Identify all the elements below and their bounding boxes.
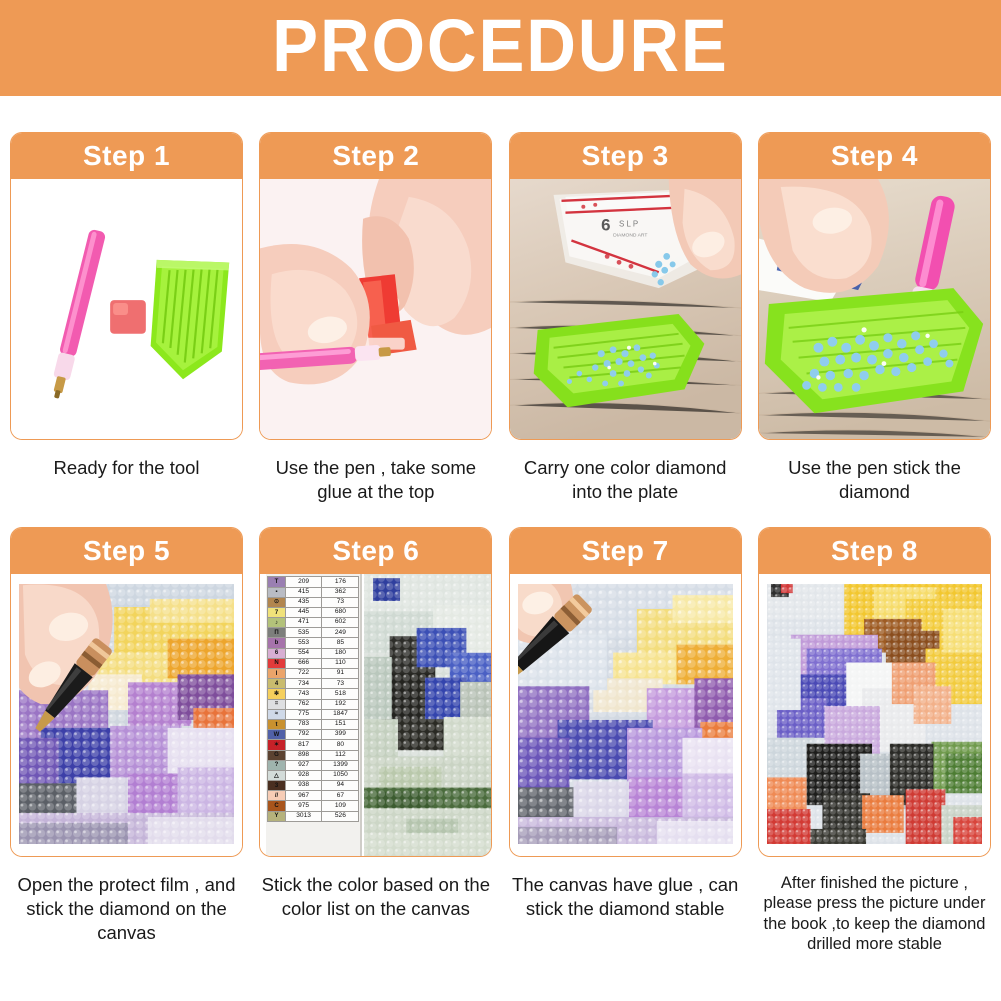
color-chart-row: △9281050 bbox=[268, 770, 359, 780]
step-label-7: Step 7 bbox=[582, 535, 669, 567]
color-chart-symbol: b bbox=[268, 638, 285, 648]
color-chart-count: 73 bbox=[322, 597, 359, 607]
color-chart-row: G898112 bbox=[268, 750, 359, 760]
color-chart-symbol: T bbox=[268, 577, 285, 587]
step-cell-6: Step 6 T209176▪415362⊙435737445680♪47160… bbox=[259, 527, 492, 954]
color-chart-row: C975109 bbox=[268, 801, 359, 811]
color-chart-symbol: // bbox=[268, 791, 285, 801]
color-chart-code: 535 bbox=[285, 628, 322, 638]
color-chart-row: 393894 bbox=[268, 781, 359, 791]
step-card-4[interactable]: Step 4 bbox=[758, 132, 991, 440]
color-chart-symbol: ✻ bbox=[268, 689, 285, 699]
step-header-7: Step 7 bbox=[510, 528, 741, 574]
step-cell-1: Step 1 bbox=[10, 132, 243, 503]
step-label-5: Step 5 bbox=[83, 535, 170, 567]
color-chart-code: 415 bbox=[285, 587, 322, 597]
steps-row-top: Step 1 bbox=[10, 132, 991, 503]
step-image-3: 6 S L P DIAMOND ART bbox=[510, 179, 741, 439]
step-header-5: Step 5 bbox=[11, 528, 242, 574]
color-chart-code: 734 bbox=[285, 679, 322, 689]
step-image-1 bbox=[11, 179, 242, 439]
color-chart-row: I72291 bbox=[268, 669, 359, 679]
color-chart-symbol: 6 bbox=[268, 648, 285, 658]
color-chart-row: Π535249 bbox=[268, 628, 359, 638]
color-chart-row: Y3013526 bbox=[268, 811, 359, 821]
color-chart-row: //96767 bbox=[268, 791, 359, 801]
step-caption-6: Stick the color based on the color list … bbox=[259, 873, 492, 920]
step-card-3[interactable]: Step 3 bbox=[509, 132, 742, 440]
step-label-3: Step 3 bbox=[582, 140, 669, 172]
color-chart-count: 67 bbox=[322, 791, 359, 801]
step-header-3: Step 3 bbox=[510, 133, 741, 179]
color-chart-row: ✻743518 bbox=[268, 689, 359, 699]
color-chart-row: ✶81780 bbox=[268, 740, 359, 750]
page-header-banner: PROCEDURE bbox=[0, 0, 1001, 96]
color-chart-code: 435 bbox=[285, 597, 322, 607]
step-card-1[interactable]: Step 1 bbox=[10, 132, 243, 440]
color-chart-code: 209 bbox=[285, 577, 322, 587]
step-image-8 bbox=[759, 574, 990, 856]
color-chart-count: 362 bbox=[322, 587, 359, 597]
step-cell-3: Step 3 bbox=[509, 132, 742, 503]
color-chart-count: 80 bbox=[322, 740, 359, 750]
photo-pen-pick-tray bbox=[759, 179, 990, 439]
color-chart-row: =762192 bbox=[268, 699, 359, 709]
color-chart-row: N666110 bbox=[268, 658, 359, 668]
svg-text:6: 6 bbox=[601, 216, 610, 235]
step-cell-5: Step 5 bbox=[10, 527, 243, 954]
step-cell-2: Step 2 bbox=[259, 132, 492, 503]
color-chart-code: 762 bbox=[285, 699, 322, 709]
color-chart-symbol: W bbox=[268, 730, 285, 740]
step-caption-1: Ready for the tool bbox=[10, 456, 243, 480]
color-chart-row: t783151 bbox=[268, 719, 359, 729]
step-caption-3: Carry one color diamond into the plate bbox=[509, 456, 742, 503]
color-chart-code: 792 bbox=[285, 730, 322, 740]
step-cell-4: Step 4 bbox=[758, 132, 991, 503]
steps-row-bottom: Step 5 bbox=[10, 527, 991, 954]
color-chart-row: ?9271399 bbox=[268, 760, 359, 770]
color-chart-row: b55385 bbox=[268, 638, 359, 648]
step-header-6: Step 6 bbox=[260, 528, 491, 574]
color-chart-row: ≈7751847 bbox=[268, 709, 359, 719]
color-chart-count: 399 bbox=[322, 730, 359, 740]
color-chart-code: 967 bbox=[285, 791, 322, 801]
color-chart-symbol: t bbox=[268, 719, 285, 729]
color-chart-count: 176 bbox=[322, 577, 359, 587]
color-chart-code: 554 bbox=[285, 648, 322, 658]
color-chart-count: 518 bbox=[322, 689, 359, 699]
step-label-1: Step 1 bbox=[83, 140, 170, 172]
step-image-5 bbox=[11, 574, 242, 856]
step-image-6: T209176▪415362⊙435737445680♪471602Π53524… bbox=[260, 574, 491, 856]
step-card-8[interactable]: Step 8 bbox=[758, 527, 991, 857]
step-label-6: Step 6 bbox=[332, 535, 419, 567]
color-chart-code: 743 bbox=[285, 689, 322, 699]
color-chart-symbol: ✶ bbox=[268, 740, 285, 750]
color-chart-symbol: G bbox=[268, 750, 285, 760]
step-header-2: Step 2 bbox=[260, 133, 491, 179]
step-cell-7: Step 7 bbox=[509, 527, 742, 954]
color-chart-code: 445 bbox=[285, 607, 322, 617]
step-header-8: Step 8 bbox=[759, 528, 990, 574]
color-chart-row: ♪471602 bbox=[268, 618, 359, 628]
step-caption-8: After finished the picture , please pres… bbox=[758, 873, 991, 954]
color-chart-symbol: = bbox=[268, 699, 285, 709]
color-chart-count: 109 bbox=[322, 801, 359, 811]
color-chart-row: 7445680 bbox=[268, 607, 359, 617]
steps-grid: Step 1 bbox=[0, 132, 1001, 954]
color-chart-symbol: C bbox=[268, 801, 285, 811]
color-chart-row: ⊙43573 bbox=[268, 597, 359, 607]
color-chart-row: 473473 bbox=[268, 679, 359, 689]
step-caption-5: Open the protect film , and stick the di… bbox=[10, 873, 243, 944]
color-chart-code: 722 bbox=[285, 669, 322, 679]
color-chart-count: 1847 bbox=[322, 709, 359, 719]
color-chart-symbol: N bbox=[268, 658, 285, 668]
color-chart-symbol: ♪ bbox=[268, 618, 285, 628]
photo-hands-glue-pen bbox=[260, 179, 491, 439]
color-chart-panel: T209176▪415362⊙435737445680♪471602Π53524… bbox=[266, 574, 362, 856]
color-chart-body: T209176▪415362⊙435737445680♪471602Π53524… bbox=[268, 577, 359, 822]
color-chart-row: 6554180 bbox=[268, 648, 359, 658]
photo-color-chart-canvas bbox=[364, 574, 491, 856]
color-chart-code: 975 bbox=[285, 801, 322, 811]
color-chart-count: 192 bbox=[322, 699, 359, 709]
color-chart-count: 112 bbox=[322, 750, 359, 760]
photo-pen-wax-tray bbox=[19, 189, 234, 427]
color-chart-count: 526 bbox=[322, 811, 359, 821]
step-caption-4: Use the pen stick the diamond bbox=[758, 456, 991, 503]
color-chart-symbol: 7 bbox=[268, 607, 285, 617]
color-chart-count: 602 bbox=[322, 618, 359, 628]
color-chart-symbol: ≈ bbox=[268, 709, 285, 719]
color-chart-code: 898 bbox=[285, 750, 322, 760]
color-chart-symbol: △ bbox=[268, 770, 285, 780]
color-chart-symbol: Π bbox=[268, 628, 285, 638]
color-chart-symbol: ⊙ bbox=[268, 597, 285, 607]
color-chart-count: 110 bbox=[322, 658, 359, 668]
color-chart-code: 775 bbox=[285, 709, 322, 719]
color-chart-row: ▪415362 bbox=[268, 587, 359, 597]
step-label-8: Step 8 bbox=[831, 535, 918, 567]
step-cell-8: Step 8 bbox=[758, 527, 991, 954]
color-chart-count: 94 bbox=[322, 781, 359, 791]
svg-text:DIAMOND ART: DIAMOND ART bbox=[613, 233, 647, 239]
color-chart-code: 3013 bbox=[285, 811, 322, 821]
color-chart-code: 666 bbox=[285, 658, 322, 668]
step-card-7[interactable]: Step 7 bbox=[509, 527, 742, 857]
step-card-5[interactable]: Step 5 bbox=[10, 527, 243, 857]
step-header-1: Step 1 bbox=[11, 133, 242, 179]
color-chart-count: 249 bbox=[322, 628, 359, 638]
color-chart-code: 928 bbox=[285, 770, 322, 780]
color-chart-symbol: 3 bbox=[268, 781, 285, 791]
color-chart-count: 151 bbox=[322, 719, 359, 729]
step-caption-2: Use the pen , take some glue at the top bbox=[259, 456, 492, 503]
color-chart-code: 783 bbox=[285, 719, 322, 729]
color-chart-symbol: ? bbox=[268, 760, 285, 770]
svg-text:S L P: S L P bbox=[619, 220, 638, 229]
color-chart-count: 91 bbox=[322, 669, 359, 679]
color-chart-symbol: Y bbox=[268, 811, 285, 821]
step-header-4: Step 4 bbox=[759, 133, 990, 179]
step-caption-7: The canvas have glue , can stick the dia… bbox=[509, 873, 742, 920]
color-chart-count: 680 bbox=[322, 607, 359, 617]
step-image-4 bbox=[759, 179, 990, 439]
color-chart-symbol: ▪ bbox=[268, 587, 285, 597]
color-chart-row: W792399 bbox=[268, 730, 359, 740]
step-label-4: Step 4 bbox=[831, 140, 918, 172]
step-card-2[interactable]: Step 2 bbox=[259, 132, 492, 440]
color-chart-code: 471 bbox=[285, 618, 322, 628]
color-chart-symbol: I bbox=[268, 669, 285, 679]
color-chart-row: T209176 bbox=[268, 577, 359, 587]
color-chart-count: 1399 bbox=[322, 760, 359, 770]
photo-bag-pour-tray: 6 S L P DIAMOND ART bbox=[510, 179, 741, 439]
color-chart-symbol: 4 bbox=[268, 679, 285, 689]
color-chart-code: 927 bbox=[285, 760, 322, 770]
step-label-2: Step 2 bbox=[332, 140, 419, 172]
color-chart-count: 180 bbox=[322, 648, 359, 658]
photo-finished-canvas bbox=[767, 584, 982, 844]
photo-canvas-pen-work bbox=[19, 584, 234, 844]
color-chart-table: T209176▪415362⊙435737445680♪471602Π53524… bbox=[267, 576, 359, 822]
color-chart-count: 73 bbox=[322, 679, 359, 689]
page-title: PROCEDURE bbox=[272, 9, 728, 87]
step-image-7 bbox=[510, 574, 741, 856]
color-chart-code: 817 bbox=[285, 740, 322, 750]
color-chart-code: 553 bbox=[285, 638, 322, 648]
step-card-6[interactable]: Step 6 T209176▪415362⊙435737445680♪47160… bbox=[259, 527, 492, 857]
color-chart-code: 938 bbox=[285, 781, 322, 791]
color-chart-count: 85 bbox=[322, 638, 359, 648]
step-image-2 bbox=[260, 179, 491, 439]
photo-canvas-pen-close bbox=[518, 584, 733, 844]
color-chart-count: 1050 bbox=[322, 770, 359, 780]
